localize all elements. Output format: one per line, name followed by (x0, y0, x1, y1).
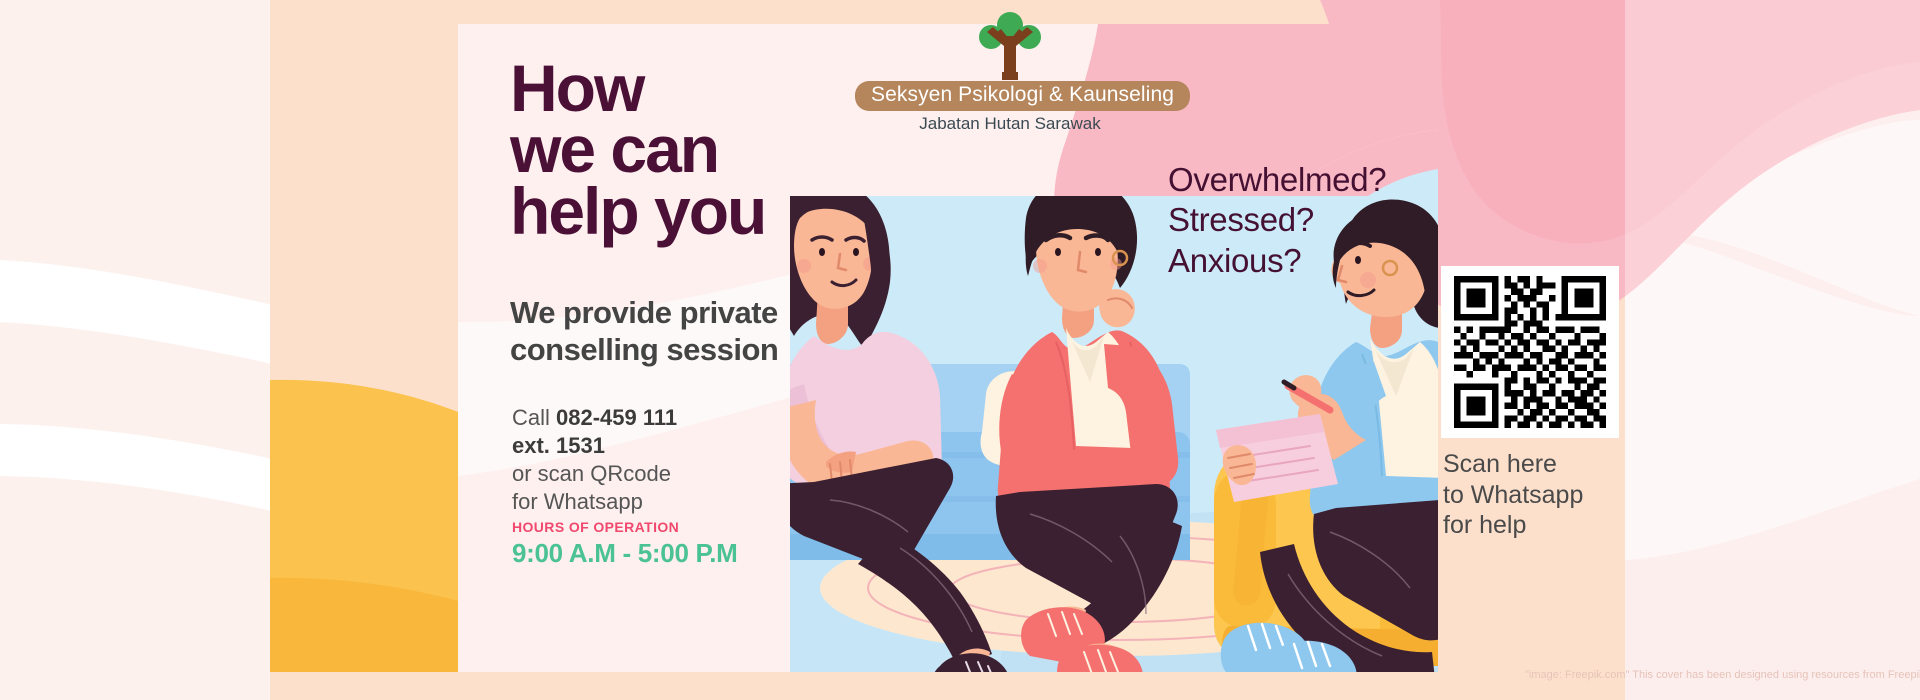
sub-headline: We provide private conselling session (510, 295, 840, 368)
image-credit: "image: Freepik.com" This cover has been… (1525, 669, 1920, 681)
whatsapp-qr-code[interactable] (1452, 276, 1608, 428)
qr-instruction-line-1: or scan QRcode (512, 460, 812, 488)
headline-line-3: help you (510, 181, 870, 242)
logo-sub-label: Jabatan Hutan Sarawak (855, 114, 1165, 134)
subheadline-line-2: conselling session (510, 332, 840, 369)
question-prompts: Overwhelmed? Stressed? Anxious? (1168, 160, 1386, 281)
qr-code-card[interactable] (1441, 266, 1619, 438)
hours-of-operation-label: HOURS OF OPERATION (512, 519, 679, 535)
hours-of-operation-value: 9:00 A.M - 5:00 P.M (512, 538, 738, 569)
extension-line: ext. 1531 (512, 432, 812, 460)
question-line-2: Stressed? (1168, 200, 1386, 240)
extension-number: ext. 1531 (512, 433, 605, 458)
headline-line-2: we can (510, 119, 870, 180)
poster-canvas: Seksyen Psikologi & Kaunseling Jabatan H… (0, 0, 1920, 700)
contact-details: Call 082-459 111 ext. 1531 or scan QRcod… (512, 404, 812, 517)
question-line-3: Anxious? (1168, 241, 1386, 281)
scan-cta: Scan here to Whatsapp for help (1443, 449, 1643, 541)
logo-pill-label: Seksyen Psikologi & Kaunseling (855, 81, 1190, 111)
qr-instruction-line-2: for Whatsapp (512, 488, 812, 516)
headline-line-1: How (510, 58, 870, 119)
page-title: How we can help you (510, 58, 870, 242)
tree-icon (971, 12, 1049, 80)
scan-cta-line-1: Scan here (1443, 449, 1643, 480)
call-prefix: Call (512, 405, 556, 430)
scan-cta-line-2: to Whatsapp (1443, 480, 1643, 511)
subheadline-line-1: We provide private (510, 295, 840, 332)
phone-number: 082-459 111 (556, 405, 677, 430)
organisation-logo: Seksyen Psikologi & Kaunseling Jabatan H… (855, 12, 1165, 134)
question-line-1: Overwhelmed? (1168, 160, 1386, 200)
scan-cta-line-3: for help (1443, 510, 1643, 541)
call-line: Call 082-459 111 (512, 404, 812, 432)
